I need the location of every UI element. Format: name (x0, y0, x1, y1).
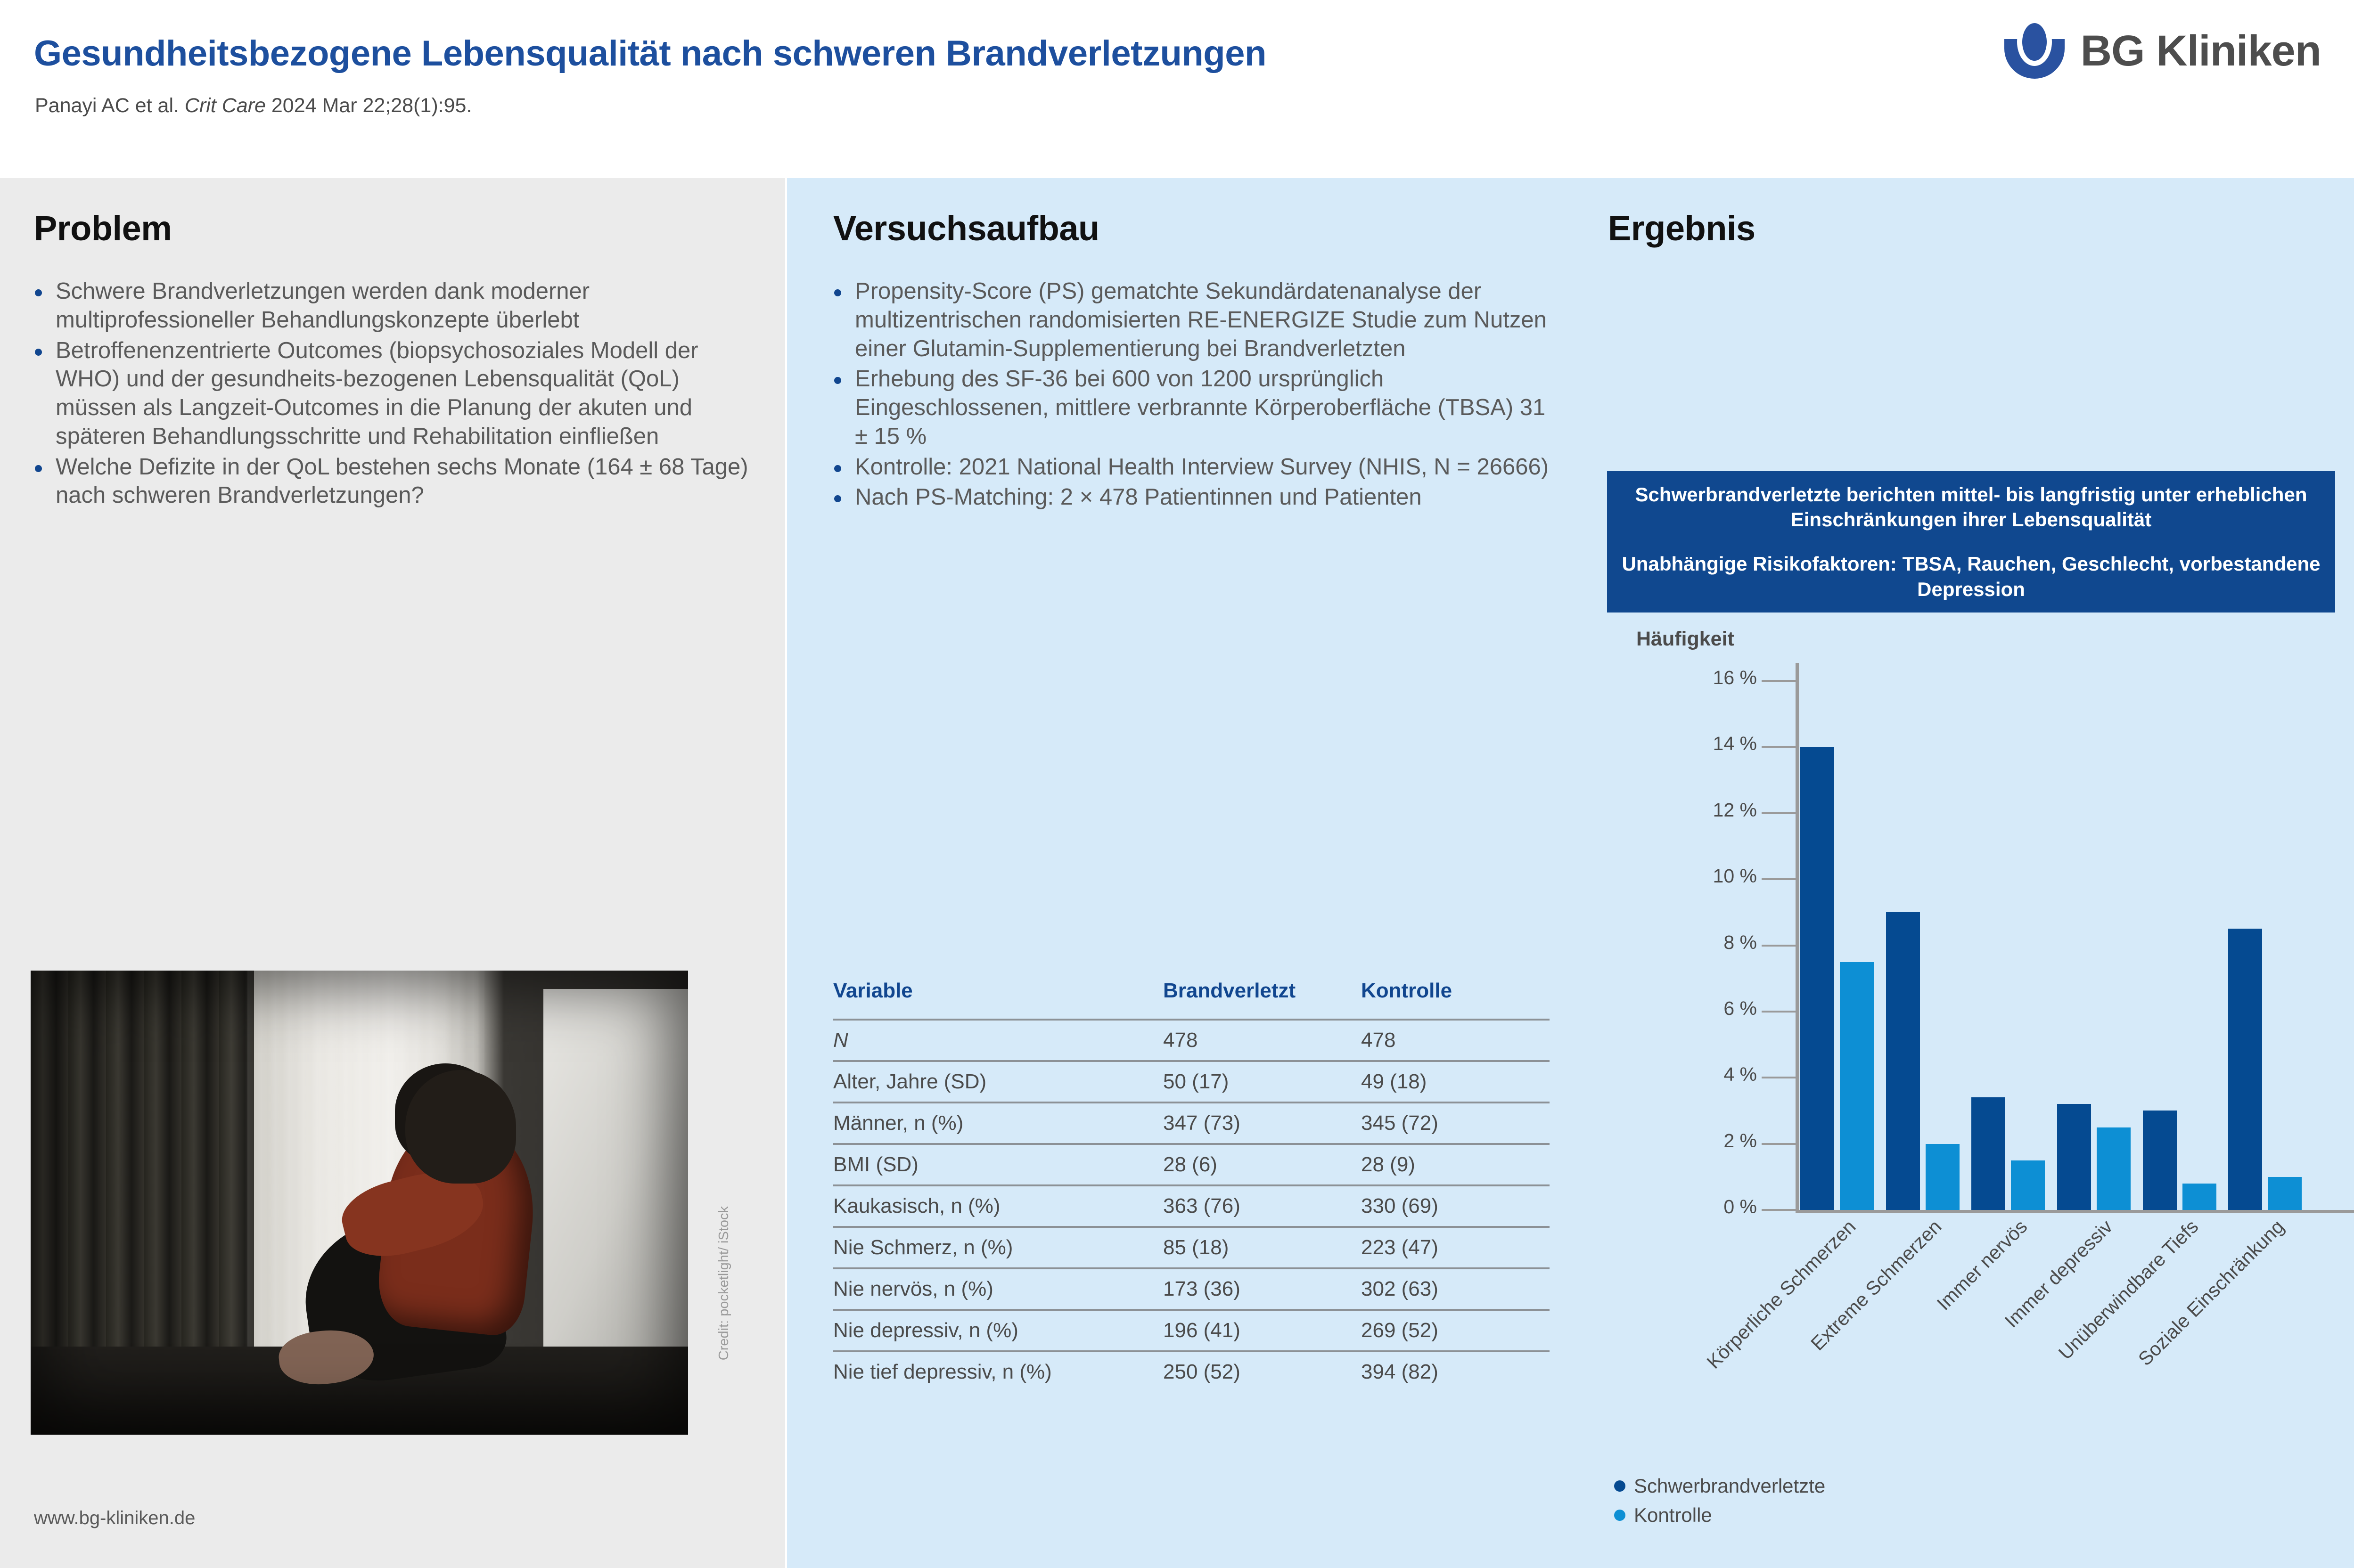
cell-variable: Nie Schmerz, n (%) (833, 1227, 1163, 1268)
citation: Panayi AC et al. Crit Care 2024 Mar 22;2… (35, 94, 472, 117)
photo-depressed-person (31, 971, 688, 1435)
chart-legend: Schwerbrandverletzte Kontrolle (1614, 1475, 1825, 1533)
chart-y-tick-label: 8 % (1723, 931, 1757, 954)
setup-bullet-list: Propensity-Score (PS) gematchte Sekundär… (830, 277, 1551, 514)
cell-brandverletzt: 363 (76) (1163, 1185, 1361, 1227)
cell-variable: Nie tief depressiv, n (%) (833, 1351, 1163, 1392)
column-header-brandverletzt: Brandverletzt (1163, 979, 1361, 1020)
baseline-characteristics-table: Variable Brandverletzt Kontrolle N478478… (833, 979, 1550, 1392)
column-header-kontrolle: Kontrolle (1361, 979, 1550, 1020)
cell-brandverletzt: 28 (6) (1163, 1144, 1361, 1185)
logo-wordmark: BG Kliniken (2081, 26, 2321, 76)
cell-brandverletzt: 50 (17) (1163, 1061, 1361, 1102)
chart-bar-group (1971, 681, 2057, 1210)
chart-bar (2182, 1184, 2216, 1210)
table-row: Nie depressiv, n (%)196 (41)269 (52) (833, 1310, 1550, 1351)
table-row: Männer, n (%)347 (73)345 (72) (833, 1102, 1550, 1144)
chart-y-tick-label: 16 % (1713, 667, 1757, 689)
website-url[interactable]: www.bg-kliniken.de (34, 1508, 195, 1529)
cell-brandverletzt: 85 (18) (1163, 1227, 1361, 1268)
cell-kontrolle: 28 (9) (1361, 1144, 1550, 1185)
chart-x-tick-label: Unüberwindbare Tiefs (2054, 1216, 2203, 1364)
chart-bar-group (1886, 681, 1972, 1210)
table-row: Alter, Jahre (SD)50 (17)49 (18) (833, 1061, 1550, 1102)
legend-label: Schwerbrandverletzte (1634, 1475, 1825, 1497)
cell-kontrolle: 345 (72) (1361, 1102, 1550, 1144)
bg-kliniken-logo: BG Kliniken (2004, 23, 2321, 79)
chart-bar (1886, 912, 1920, 1210)
chart-axis-label-y: Häufigkeit (1636, 628, 1734, 651)
chart-bar (1971, 1097, 2005, 1210)
cell-kontrolle: 478 (1361, 1020, 1550, 1061)
key-result-box: Schwerbrandverletzte berichten mittel- b… (1607, 471, 2335, 612)
table-body: N478478 Alter, Jahre (SD)50 (17)49 (18) … (833, 1020, 1550, 1392)
table-row: BMI (SD)28 (6)28 (9) (833, 1144, 1550, 1185)
list-item: Kontrolle: 2021 National Health Intervie… (830, 453, 1551, 482)
cell-kontrolle: 302 (63) (1361, 1268, 1550, 1310)
chart-bar (2097, 1127, 2131, 1210)
result-line-2: Unabhängige Risikofaktoren: TBSA, Rauche… (1607, 551, 2335, 602)
cell-kontrolle: 49 (18) (1361, 1061, 1550, 1102)
setup-heading: Versuchsaufbau (833, 208, 1099, 248)
chart-plot-area: 0 %2 %4 %6 %8 %10 %12 %14 %16 % (1800, 681, 2314, 1210)
chart-bar-group (2057, 681, 2143, 1210)
table-row: Nie tief depressiv, n (%)250 (52)394 (82… (833, 1351, 1550, 1392)
table-row: N478478 (833, 1020, 1550, 1061)
problem-bullet-list: Schwere Brandverletzungen werden dank mo… (31, 277, 752, 512)
chart-bar (2228, 929, 2262, 1210)
chart-bar-group (2228, 681, 2314, 1210)
cell-brandverletzt: 347 (73) (1163, 1102, 1361, 1144)
table-row: Nie nervös, n (%)173 (36)302 (63) (833, 1268, 1550, 1310)
chart-y-tick-label: 14 % (1713, 733, 1757, 755)
cell-variable: Nie depressiv, n (%) (833, 1310, 1163, 1351)
page-title: Gesundheitsbezogene Lebensqualität nach … (34, 33, 1266, 74)
cell-variable: N (833, 1020, 1163, 1061)
table-header-row: Variable Brandverletzt Kontrolle (833, 979, 1550, 1020)
chart-bar (1800, 747, 1834, 1210)
chart-bar (1926, 1144, 1960, 1210)
legend-item-schwerbrandverletzte: Schwerbrandverletzte (1614, 1475, 1825, 1497)
cell-kontrolle: 223 (47) (1361, 1227, 1550, 1268)
list-item: Welche Defizite in der QoL bestehen sech… (31, 453, 752, 510)
chart-y-tick-label: 2 % (1723, 1130, 1757, 1152)
result-heading: Ergebnis (1608, 208, 1755, 248)
bg-kliniken-mark-icon (2004, 23, 2065, 79)
chart-x-axis (1796, 1210, 2354, 1213)
chart-bar (2011, 1160, 2045, 1210)
chart-bar (2143, 1111, 2177, 1210)
photo-credit: Credit: pocketlight/ iStock (716, 1206, 732, 1360)
list-item: Schwere Brandverletzungen werden dank mo… (31, 277, 752, 335)
list-item: Erhebung des SF-36 bei 600 von 1200 ursp… (830, 365, 1551, 450)
chart-y-tick-label: 4 % (1723, 1063, 1757, 1086)
table-row: Nie Schmerz, n (%)85 (18)223 (47) (833, 1227, 1550, 1268)
chart-y-tick-label: 12 % (1713, 799, 1757, 821)
cell-variable: Männer, n (%) (833, 1102, 1163, 1144)
cell-kontrolle: 394 (82) (1361, 1351, 1550, 1392)
cell-kontrolle: 269 (52) (1361, 1310, 1550, 1351)
chart-bar (2057, 1104, 2091, 1210)
chart-bar (2268, 1177, 2302, 1210)
legend-color-swatch (1614, 1480, 1625, 1492)
cell-variable: Nie nervös, n (%) (833, 1268, 1163, 1310)
chart-y-tick-label: 6 % (1723, 997, 1757, 1020)
cell-brandverletzt: 478 (1163, 1020, 1361, 1061)
chart-x-tick-label: Körperliche Schmerzen (1703, 1216, 1861, 1373)
chart-x-tick-label: Soziale Einschränkung (2134, 1216, 2288, 1370)
list-item: Betroffenenzentrierte Outcomes (biopsych… (31, 336, 752, 451)
result-line-1: Schwerbrandverletzte berichten mittel- b… (1607, 482, 2335, 533)
list-item: Propensity-Score (PS) gematchte Sekundär… (830, 277, 1551, 363)
column-header-variable: Variable (833, 979, 1163, 1020)
table-row: Kaukasisch, n (%)363 (76)330 (69) (833, 1185, 1550, 1227)
frequency-bar-chart: Häufigkeit 0 %2 %4 %6 %8 %10 %12 %14 %16… (1591, 617, 2354, 1564)
cell-variable: Alter, Jahre (SD) (833, 1061, 1163, 1102)
legend-item-kontrolle: Kontrolle (1614, 1504, 1825, 1527)
citation-authors: Panayi AC et al. (35, 94, 185, 117)
cell-brandverletzt: 196 (41) (1163, 1310, 1361, 1351)
cell-brandverletzt: 173 (36) (1163, 1268, 1361, 1310)
chart-y-axis (1796, 663, 1799, 1210)
problem-heading: Problem (34, 208, 172, 248)
page-header: Gesundheitsbezogene Lebensqualität nach … (0, 0, 2354, 178)
cell-variable: BMI (SD) (833, 1144, 1163, 1185)
cell-kontrolle: 330 (69) (1361, 1185, 1550, 1227)
cell-brandverletzt: 250 (52) (1163, 1351, 1361, 1392)
list-item: Nach PS-Matching: 2 × 478 Patientinnen u… (830, 483, 1551, 512)
chart-bars (1800, 681, 2314, 1210)
chart-y-tick-label: 10 % (1713, 865, 1757, 887)
citation-details: 2024 Mar 22;28(1):95. (266, 94, 472, 117)
chart-bar-group (2143, 681, 2229, 1210)
chart-bar-group (1800, 681, 1886, 1210)
chart-x-tick-labels: Körperliche SchmerzenExtreme SchmerzenIm… (1800, 1216, 2314, 1413)
chart-y-tick-label: 0 % (1723, 1196, 1757, 1218)
chart-bar (1840, 962, 1874, 1210)
citation-journal: Crit Care (185, 94, 266, 117)
legend-color-swatch (1614, 1510, 1625, 1521)
legend-label: Kontrolle (1634, 1504, 1712, 1527)
cell-variable: Kaukasisch, n (%) (833, 1185, 1163, 1227)
